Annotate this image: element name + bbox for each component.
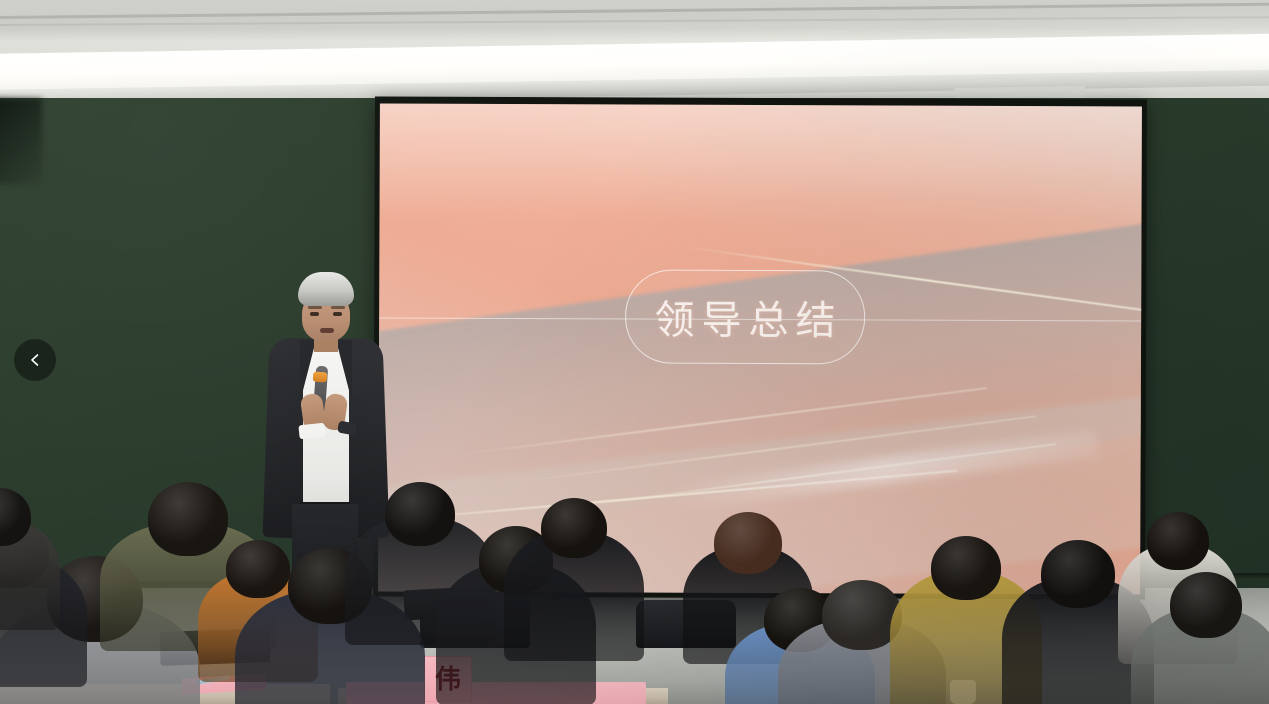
audience-group xyxy=(0,0,1269,704)
person-brown-hair-head xyxy=(714,512,782,574)
person-mustard-coat-head xyxy=(931,536,1001,600)
previous-photo-button[interactable] xyxy=(14,339,56,381)
person-olive-sweater-head xyxy=(148,482,228,556)
chevron-left-icon xyxy=(27,352,43,368)
person-dark-right-1-head xyxy=(1041,540,1115,608)
person-headband-head xyxy=(1147,512,1209,570)
person-black-jacket-1-head xyxy=(541,498,607,558)
person-grey-right-head xyxy=(1170,572,1242,638)
person-dark-suit-2-head xyxy=(385,482,455,546)
person-orange-sleeve-head xyxy=(226,540,290,598)
photo-viewer-stage: 领导总结 伟 xyxy=(0,0,1269,704)
